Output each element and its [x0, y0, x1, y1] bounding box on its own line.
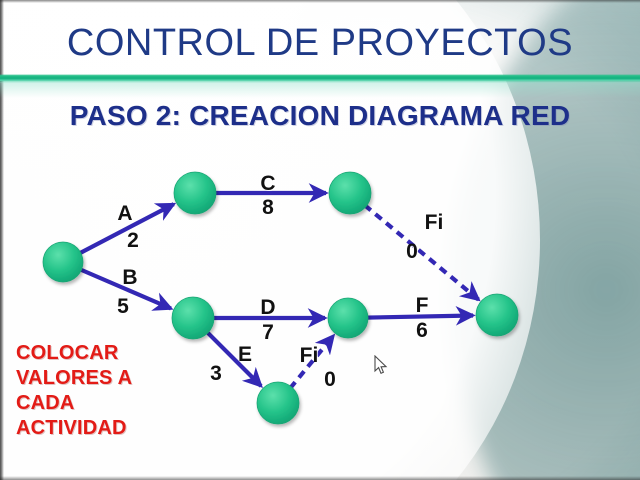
diagram-node-n2 — [174, 172, 216, 214]
diagram-node-n4 — [172, 297, 214, 339]
edge-duration-label-e-e: 3 — [210, 362, 222, 386]
edge-duration-label-e-fi1: 0 — [406, 240, 418, 264]
edge-activity-label-e-b: B — [122, 266, 137, 290]
instruction-note: COLOCARVALORES ACADAACTIVIDAD — [16, 341, 132, 441]
instruction-note-line: COLOCAR — [16, 341, 132, 366]
instruction-note-line: VALORES A — [16, 366, 132, 391]
instruction-note-line: ACTIVIDAD — [16, 416, 132, 441]
edge-activity-label-e-d: D — [260, 296, 275, 320]
edge-activity-label-e-f: F — [416, 294, 429, 318]
edge-activity-label-e-e: E — [238, 343, 252, 367]
diagram-node-n7 — [476, 294, 518, 336]
edge-duration-label-e-d: 7 — [262, 321, 274, 345]
mouse-cursor — [374, 355, 388, 375]
diagram-node-n1 — [43, 242, 83, 282]
edge-activity-label-e-fi1: Fi — [425, 211, 444, 235]
slide-canvas: CONTROL DE PROYECTOS PASO 2: CREACION DI… — [0, 0, 640, 480]
diagram-edges — [79, 193, 479, 388]
edge-duration-label-e-b: 5 — [117, 295, 129, 319]
edge-duration-label-e-a: 2 — [127, 229, 139, 253]
edge-activity-label-e-a: A — [117, 202, 132, 226]
edge-duration-label-e-fi2: 0 — [324, 368, 336, 392]
diagram-node-n6 — [257, 382, 299, 424]
edge-activity-label-e-c: C — [260, 172, 275, 196]
diagram-node-n3 — [329, 172, 371, 214]
instruction-note-line: CADA — [16, 391, 132, 416]
edge-duration-label-e-f: 6 — [416, 319, 428, 343]
diagram-edge-fi-e-fi1 — [365, 205, 479, 300]
edge-duration-label-e-c: 8 — [262, 196, 274, 220]
diagram-node-n5 — [328, 298, 368, 338]
edge-activity-label-e-fi2: Fi — [300, 344, 319, 368]
